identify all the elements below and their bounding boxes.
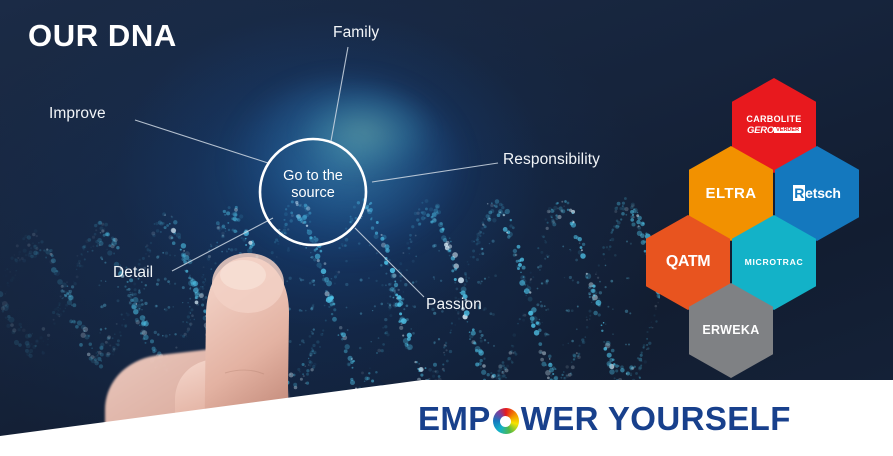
carbolite-line1: CARBOLITE	[746, 115, 801, 124]
brand-label-retsch: Retsch	[793, 186, 841, 201]
spoke-line-responsibility	[372, 163, 498, 182]
brand-label-eltra: ELTRA	[706, 186, 757, 202]
brand-label-qatm: QATM	[666, 254, 710, 271]
center-circle-label: Go to the source	[258, 168, 368, 201]
spoke-label-responsibility: Responsibility	[503, 151, 600, 169]
spoke-line-passion	[355, 228, 424, 297]
slide-canvas: OUR DNA Family Improve Responsibility De…	[0, 0, 893, 456]
carbolite-line2: GEROVERDER	[746, 126, 801, 136]
spoke-label-family: Family	[333, 24, 379, 42]
rainbow-ring-icon	[493, 408, 519, 434]
spoke-label-improve: Improve	[49, 105, 106, 123]
banner-text-before: EMP	[418, 400, 491, 438]
brand-label-erweka: ERWEKA	[702, 324, 759, 337]
retsch-initial: R	[793, 185, 805, 201]
brand-label-microtrac: MICROTRAC	[745, 258, 804, 267]
retsch-rest: etsch	[805, 185, 841, 201]
banner-text-after: WER YOURSELF	[521, 400, 791, 438]
page-title: OUR DNA	[28, 18, 177, 54]
spoke-label-detail: Detail	[113, 264, 153, 282]
brand-label-carbolite: CARBOLITE GEROVERDER	[746, 115, 801, 135]
spoke-label-passion: Passion	[426, 296, 482, 314]
brand-hexagon-cluster: CARBOLITE GEROVERDER ELTRA Retsch QATM M…	[655, 78, 893, 368]
spoke-line-family	[331, 47, 348, 141]
spoke-line-improve	[135, 120, 268, 163]
banner-tagline: EMP WER YOURSELF	[418, 400, 791, 438]
carbolite-gero-text: GERO	[747, 125, 774, 136]
spoke-line-detail	[172, 218, 273, 271]
carbolite-verder-tag: VERDER	[774, 127, 801, 133]
